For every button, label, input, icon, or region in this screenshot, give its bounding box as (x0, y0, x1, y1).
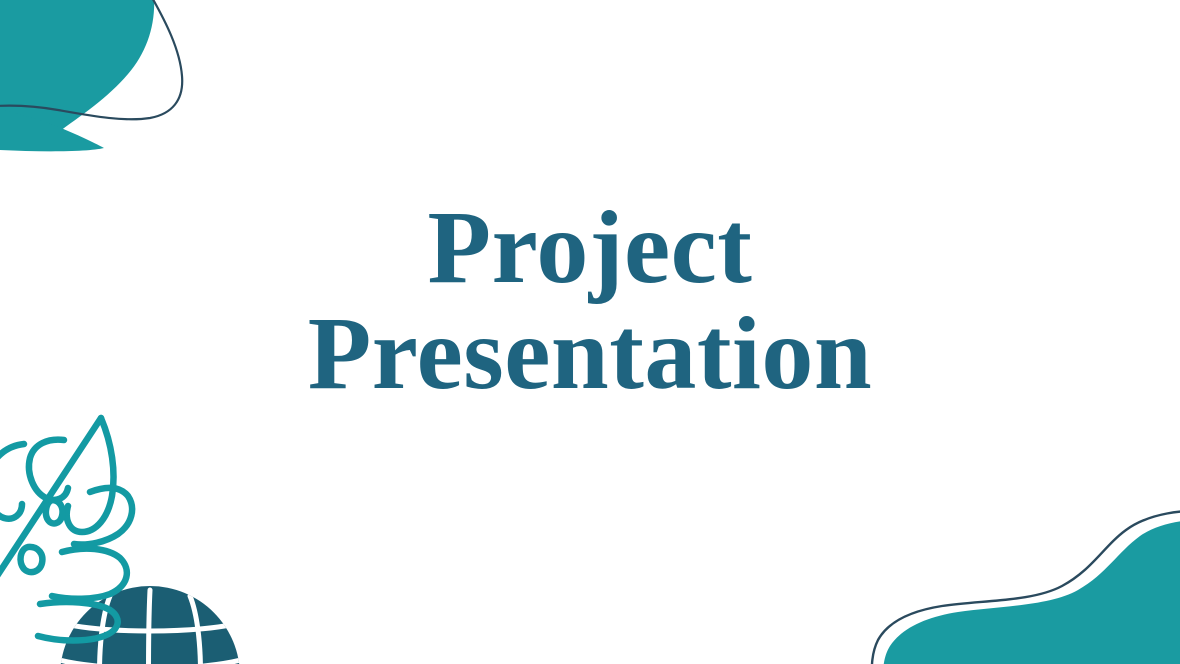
globe-grid-lines (52, 590, 248, 664)
title-line-2: Presentation (0, 301, 1180, 407)
top-left-blob-lower-lobe (0, 100, 104, 151)
globe-group (52, 586, 248, 664)
globe-sphere-icon (60, 586, 240, 664)
presentation-slide: Project Presentation (0, 0, 1180, 664)
top-left-blob-shape (0, 0, 154, 149)
top-left-outline-curve-icon (0, 0, 182, 119)
monstera-leaf-icon (0, 418, 132, 641)
bottom-right-decoration-group (872, 511, 1180, 664)
title-line-1: Project (0, 195, 1180, 301)
top-left-decoration-group (0, 0, 182, 151)
bottom-right-outline-curve-icon (872, 511, 1180, 664)
bottom-right-blob-shape (882, 520, 1180, 664)
page-title: Project Presentation (0, 195, 1180, 407)
